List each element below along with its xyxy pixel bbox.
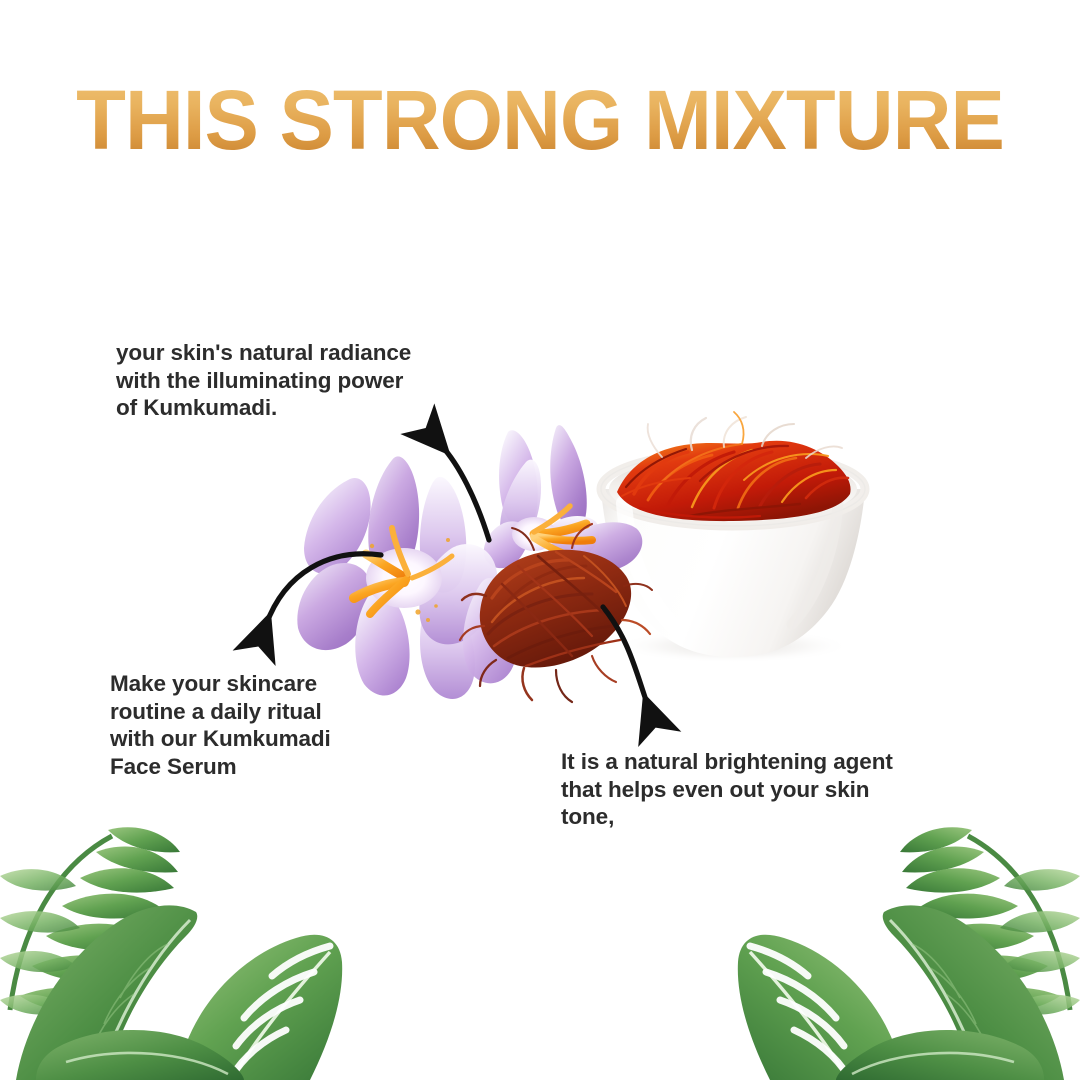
callout-text-bottom-left: Make your skincare routine a daily ritua… bbox=[110, 670, 410, 780]
poster-canvas: THIS STRONG MIXTURE bbox=[0, 0, 1080, 1080]
banana-leaf-right bbox=[883, 905, 1064, 1080]
monstera-leaf-right bbox=[738, 935, 902, 1080]
palm-frond-left bbox=[0, 827, 180, 1014]
tropical-leaves-bottom-left bbox=[0, 827, 342, 1080]
callout-text-bottom-right: It is a natural brightening agent that h… bbox=[561, 748, 961, 831]
curved-arrow-down-left bbox=[266, 554, 381, 625]
bowl-shadow bbox=[615, 629, 851, 663]
callout-text-top-left: your skin's natural radiance with the il… bbox=[116, 339, 476, 422]
saffron-crocus-flowers bbox=[297, 425, 642, 699]
bowl-rim-inner bbox=[609, 455, 857, 523]
crocus-flower-back bbox=[484, 425, 643, 571]
bowl-rim bbox=[601, 452, 865, 526]
callout-arrows bbox=[266, 445, 648, 706]
saffron-threads-pile bbox=[460, 524, 652, 702]
crocus-stamens-front bbox=[354, 528, 452, 614]
monstera-leaf-left bbox=[178, 935, 342, 1080]
crocus-stamens-back bbox=[534, 506, 592, 560]
saffron-threads-in-bowl bbox=[617, 412, 851, 521]
tropical-leaves-bottom-right bbox=[738, 827, 1080, 1080]
foreground-leaf-left bbox=[36, 1030, 244, 1080]
white-ceramic-bowl bbox=[601, 452, 865, 657]
curved-arrow-down-right bbox=[603, 607, 648, 706]
palm-frond-right bbox=[900, 827, 1080, 1014]
banana-leaf-left bbox=[16, 905, 197, 1080]
crocus-flower-front bbox=[297, 456, 517, 699]
page-title: THIS STRONG MIXTURE bbox=[16, 78, 1064, 162]
curved-arrow-up-left bbox=[441, 445, 489, 540]
foreground-leaf-right bbox=[836, 1030, 1044, 1080]
